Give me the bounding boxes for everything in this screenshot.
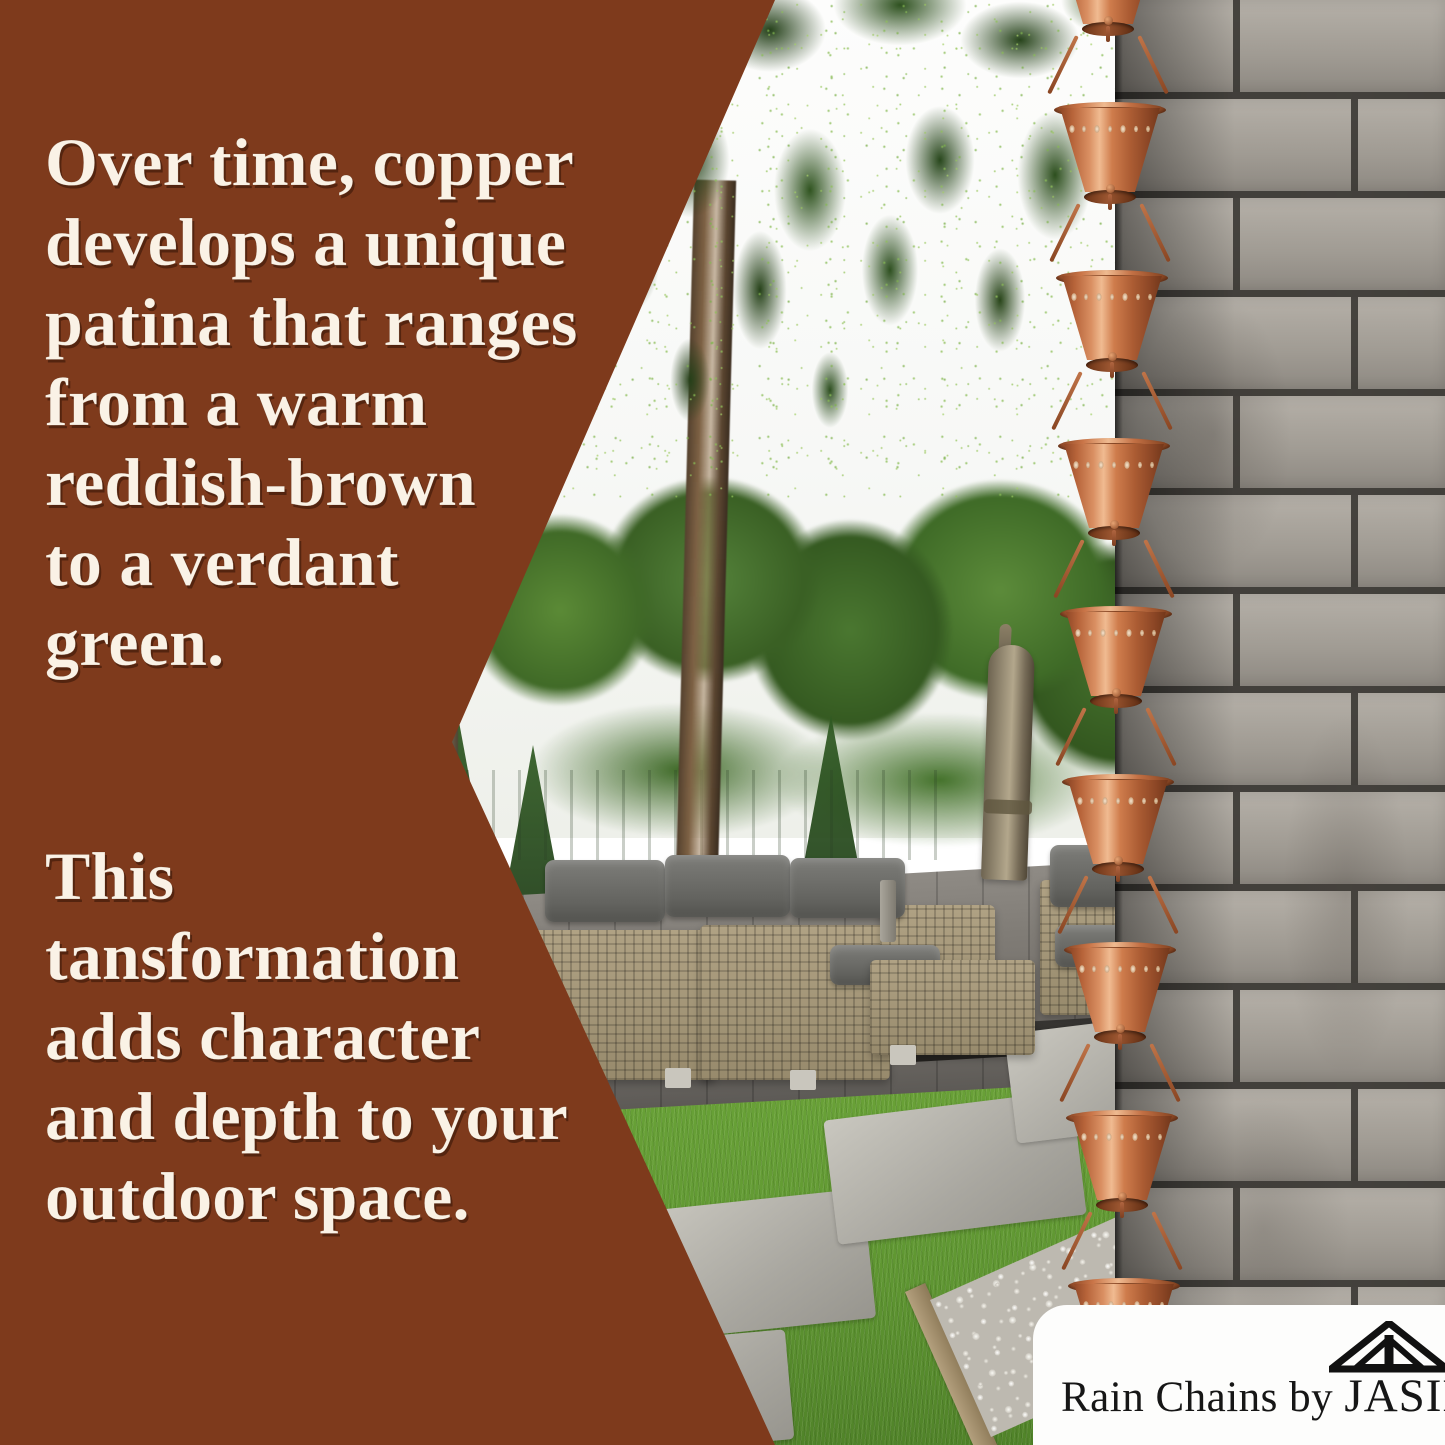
headline-2-line-2: tansformation (45, 916, 565, 996)
garden-path-light (880, 880, 896, 942)
chain-link (1081, 708, 1151, 770)
chain-link (1075, 204, 1145, 266)
poster-canvas: Over time, copper develops a unique pati… (0, 0, 1445, 1445)
logo-brand: JASINC (1344, 1370, 1445, 1422)
copper-cup (1066, 770, 1170, 874)
headline-1-line-7: green. (45, 602, 605, 682)
headline-2-line-3: adds character (45, 996, 565, 1076)
chain-link (1073, 36, 1143, 98)
copper-cup (1064, 602, 1168, 706)
headline-paragraph-1: Over time, copper develops a unique pati… (45, 122, 605, 682)
copper-cup (1062, 434, 1166, 538)
chain-link (1079, 540, 1149, 602)
headline-1-line-6: to a verdant (45, 522, 605, 602)
headline-1-line-4: from a warm (45, 362, 605, 442)
copper-cup (1068, 938, 1172, 1042)
sofa-foot-2 (665, 1068, 691, 1088)
chain-link (1083, 876, 1153, 938)
logo-prefix: Rain Chains by (1061, 1374, 1344, 1421)
headline-1-line-5: reddish-brown (45, 442, 605, 522)
wicker-ottoman (870, 960, 1035, 1055)
chain-link (1077, 372, 1147, 434)
roof-truss-icon (1329, 1321, 1445, 1373)
copper-cup (1060, 266, 1164, 370)
headline-2-line-5: outdoor space. (45, 1156, 565, 1236)
copper-cup (1070, 1106, 1174, 1210)
umbrella-strap (984, 799, 1032, 815)
chain-link (1085, 1044, 1155, 1106)
ottoman-foot (890, 1045, 916, 1065)
copper-cup (1058, 98, 1162, 202)
brand-logo-box: Rain Chains by JASINC (1033, 1305, 1445, 1445)
headline-1-line-1: Over time, copper (45, 122, 605, 202)
brand-logo-text: Rain Chains by JASINC (1061, 1369, 1445, 1423)
headline-paragraph-2: This tansformation adds character and de… (45, 836, 565, 1236)
headline-2-line-1: This (45, 836, 565, 916)
sofa-cushion-2 (665, 855, 790, 917)
headline-1-line-3: patina that ranges (45, 282, 605, 362)
closed-patio-umbrella (981, 644, 1035, 880)
headline-2-line-4: and depth to your (45, 1076, 565, 1156)
headline-1-line-2: develops a unique (45, 202, 605, 282)
copper-rain-chain (1038, 0, 1178, 1445)
sofa-foot-3 (790, 1070, 816, 1090)
chain-link (1087, 1212, 1157, 1274)
